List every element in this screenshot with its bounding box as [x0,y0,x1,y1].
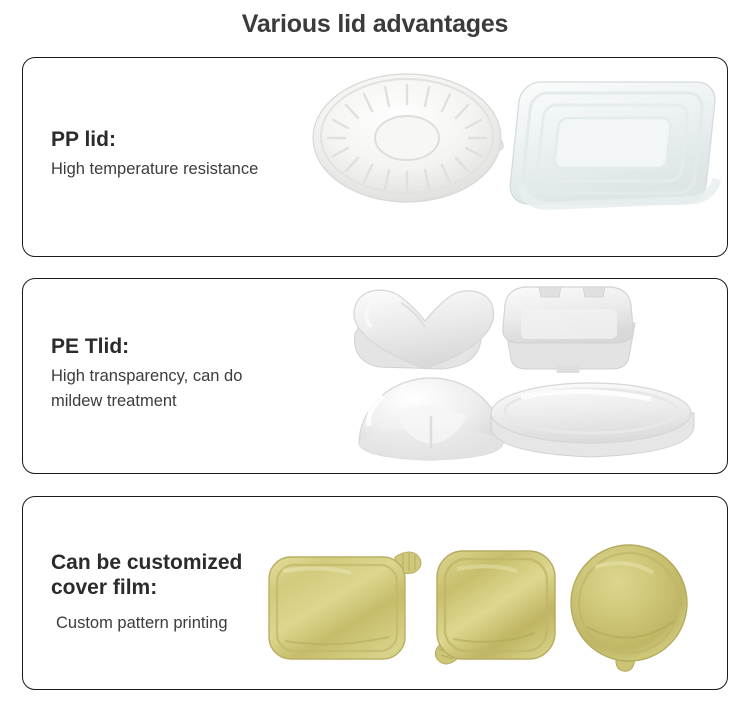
cover-film-heading: Can be customized cover film: [51,551,242,601]
page-title: Various lid advantages [0,0,750,39]
pe-lid-subtext: High transparency, can do mildew treatme… [51,364,242,415]
cover-film-subtext: Custom pattern printing [51,605,242,637]
round-pe-dome-lid-image [353,372,508,464]
gold-round-cover-film-image [561,539,701,679]
round-pp-lid-image [311,64,531,209]
card-cover-film: Can be customized cover film: Custom pat… [22,496,728,690]
pp-lid-heading: PP lid: [51,128,258,153]
card-pe-lid: PE Tlid: High transparency, can do milde… [22,278,728,474]
rectangular-pp-lid-image [509,66,728,226]
pe-lid-heading: PE Tlid: [51,335,242,360]
square-pe-dome-lid-image [495,279,645,374]
oval-pe-flat-lid-image [485,377,700,461]
pp-lid-subtext: High temperature resistance [51,157,258,183]
gold-square-cover-film-image [423,543,569,673]
heart-pe-dome-lid-image [341,281,511,376]
cards-container: PP lid: High temperature resistance [22,57,728,690]
cover-film-text-block: Can be customized cover film: Custom pat… [51,551,242,636]
pp-lid-text-block: PP lid: High temperature resistance [51,128,258,182]
gold-rectangular-cover-film-image [263,545,433,670]
pe-lid-text-block: PE Tlid: High transparency, can do milde… [51,335,242,415]
card-pp-lid: PP lid: High temperature resistance [22,57,728,257]
